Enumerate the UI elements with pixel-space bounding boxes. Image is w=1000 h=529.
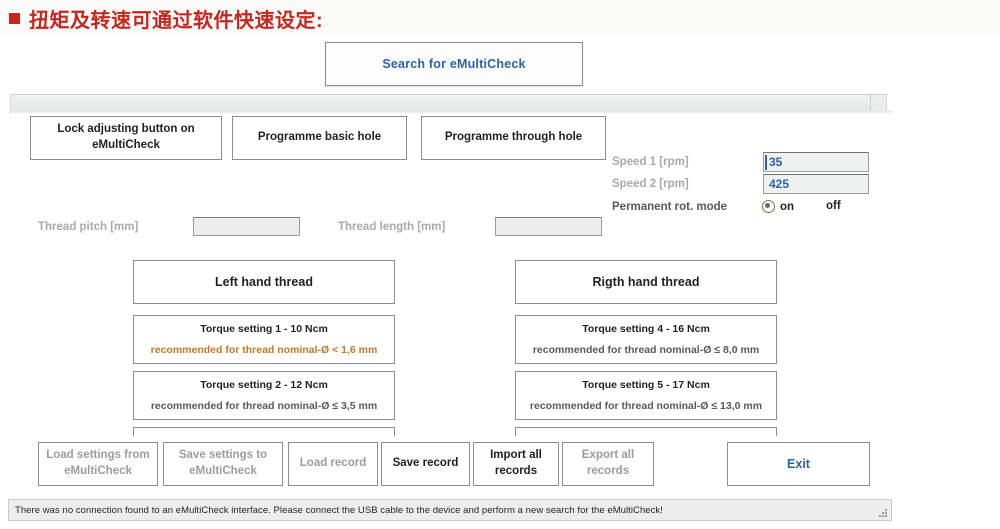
programme-basic-hole-button[interactable]: Programme basic hole [232,116,407,160]
search-for-emulticheck-button[interactable]: Search for eMultiCheck [325,42,583,86]
speed-2-input[interactable]: 425 [763,174,869,194]
save-record-button[interactable]: Save record [381,442,470,486]
load-settings-from-emulticheck-button[interactable]: Load settings from eMultiCheck [38,442,158,486]
torque-setting-1-title: Torque setting 1 - 10 Ncm [200,323,328,335]
page-heading: 扭矩及转速可通过软件快速设定: [0,0,1000,36]
torque-setting-1-button[interactable]: Torque setting 1 - 10 Ncm recommended fo… [133,315,395,364]
thread-pitch-input[interactable] [193,217,300,236]
scrollbar-divider [12,111,892,114]
lock-adjusting-button[interactable]: Lock adjusting button on eMultiCheck [30,116,222,160]
programme-through-hole-label: Programme through hole [445,130,582,146]
thread-length-input[interactable] [495,217,602,236]
permanent-mode-off-radio[interactable]: off [826,200,841,212]
programme-basic-hole-label: Programme basic hole [258,130,381,146]
import-all-records-button[interactable]: Import all records [473,442,559,486]
torque-setting-2-button[interactable]: Torque setting 2 - 12 Ncm recommended fo… [133,371,395,420]
emulticheck-application-window: Search for eMultiCheck Lock adjusting bu… [0,36,1000,529]
status-bar-message: There was no connection found to an eMul… [9,505,663,516]
torque-setting-2-title: Torque setting 2 - 12 Ncm [200,379,328,391]
permanent-mode-off-label: off [826,200,841,212]
search-button-label: Search for eMultiCheck [382,57,525,71]
save-settings-label: Save settings to eMultiCheck [164,448,282,479]
heading-bullet-icon [9,13,20,24]
right-hand-thread-label: Rigth hand thread [593,275,700,289]
thread-length-label: Thread length [mm] [338,221,445,233]
resize-grip-icon[interactable] [878,508,887,517]
left-hand-thread-label: Left hand thread [215,275,313,289]
speed-2-label: Speed 2 [rpm] [612,178,689,190]
torque-setting-5-recommendation: recommended for thread nominal-Ø ≤ 13,0 … [530,400,762,412]
torque-setting-1-recommendation: recommended for thread nominal-Ø < 1,6 m… [151,344,378,356]
exit-button[interactable]: Exit [727,442,870,486]
left-hand-thread-button[interactable]: Left hand thread [133,260,395,304]
torque-setting-4-button[interactable]: Torque setting 4 - 16 Ncm recommended fo… [515,315,777,364]
import-all-records-label: Import all records [474,448,558,479]
torque-setting-4-recommendation: recommended for thread nominal-Ø ≤ 8,0 m… [533,344,759,356]
load-record-label: Load record [300,456,366,472]
status-bar: There was no connection found to an eMul… [8,499,892,521]
export-all-records-label: Export all records [563,448,653,479]
speed-1-label: Speed 1 [rpm] [612,156,689,168]
permanent-rot-mode-label: Permanent rot. mode [612,201,727,213]
right-hand-thread-button[interactable]: Rigth hand thread [515,260,777,304]
load-settings-label: Load settings from eMultiCheck [39,448,157,479]
save-settings-to-emulticheck-button[interactable]: Save settings to eMultiCheck [163,442,283,486]
permanent-mode-on-label: on [780,201,794,213]
torque-setting-5-title: Torque setting 5 - 17 Ncm [582,379,710,391]
export-all-records-button[interactable]: Export all records [562,442,654,486]
torque-setting-4-title: Torque setting 4 - 16 Ncm [582,323,710,335]
load-record-button[interactable]: Load record [288,442,378,486]
speed-1-input[interactable]: 35 [763,152,869,172]
lock-adjusting-button-label: Lock adjusting button on eMultiCheck [31,122,221,153]
radio-on-icon [762,200,775,213]
thread-pitch-label: Thread pitch [mm] [38,221,138,233]
save-record-label: Save record [393,456,459,472]
horizontal-scrollbar-thumb[interactable] [11,95,871,110]
page-title: 扭矩及转速可通过软件快速设定: [29,4,323,33]
exit-button-label: Exit [787,456,810,473]
torque-setting-2-recommendation: recommended for thread nominal-Ø ≤ 3,5 m… [151,400,377,412]
permanent-mode-on-radio[interactable]: on [762,200,794,213]
programme-through-hole-button[interactable]: Programme through hole [421,116,606,160]
torque-setting-5-button[interactable]: Torque setting 5 - 17 Ncm recommended fo… [515,371,777,420]
